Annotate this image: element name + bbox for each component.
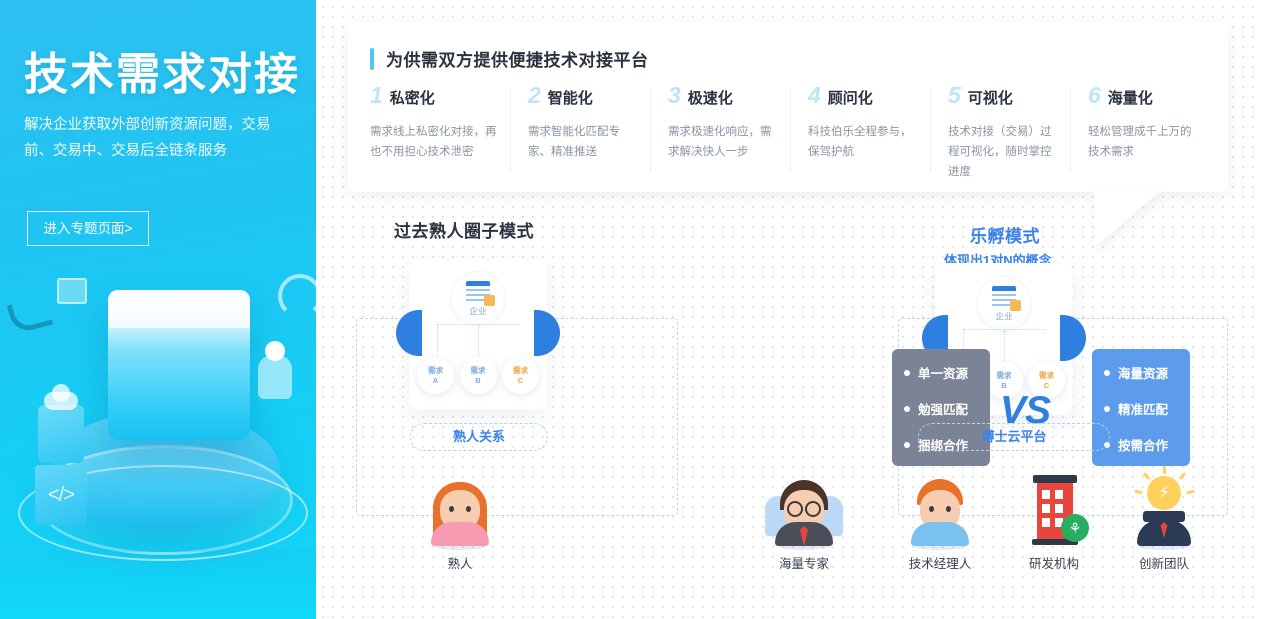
innovation-team-icon [1125, 470, 1203, 548]
enter-topic-page-button[interactable]: 进入专题页面> [27, 211, 149, 246]
feature-item-1[interactable]: 1 私密化 需求线上私密化对接，再也不用担心技术泄密 [370, 84, 510, 182]
enterprise-node: 企业 [451, 272, 505, 326]
actor-experts: 海量专家 [756, 470, 852, 572]
demand-node-c: 需求 C [502, 357, 539, 394]
suit-icon [1137, 520, 1191, 546]
feature-number: 5 [948, 84, 961, 107]
node-line1: 需求 [513, 366, 528, 376]
feature-heading: 4 顾问化 [808, 84, 918, 108]
right-benefits-box: 海量资源 精准匹配 按需合作 [1092, 349, 1190, 466]
robot-icon [258, 355, 292, 399]
body [431, 522, 489, 546]
cloud-icon [44, 392, 78, 410]
eye [946, 506, 951, 512]
demand-node-a: 需求 A [417, 357, 454, 394]
bulb-ray [1163, 466, 1166, 474]
node-line1: 需求 [1039, 371, 1054, 381]
feature-name: 极速化 [688, 87, 733, 108]
left-mode-title: 过去熟人圈子模式 [394, 217, 534, 242]
benefit-label: 勉强匹配 [918, 399, 968, 418]
actor-label: 熟人 [412, 553, 508, 572]
right-platform-pill: 博士云平台 [918, 423, 1110, 451]
feature-item-3[interactable]: 3 极速化 需求极速化响应，需求解决快人一步 [650, 84, 790, 182]
acquaintance-avatar-icon [421, 470, 499, 548]
code-block-icon: </> [35, 465, 87, 525]
accent-bar [370, 48, 374, 70]
eye [466, 506, 471, 512]
feature-description: 需求线上私密化对接，再也不用担心技术泄密 [370, 122, 498, 162]
feature-heading: 2 智能化 [528, 84, 638, 108]
feature-card-title: 为供需双方提供便捷技术对接平台 [386, 46, 649, 71]
feature-name: 智能化 [548, 87, 593, 108]
actor-team: 创新团队 [1116, 470, 1212, 572]
experts-avatar-icon [765, 470, 843, 548]
illustration-swoosh [7, 295, 53, 334]
node-line1: 需求 [428, 366, 443, 376]
feature-number: 1 [370, 84, 383, 107]
eye [929, 506, 934, 512]
node-line2: B [475, 376, 480, 386]
hero-subtitle: 解决企业获取外部创新资源问题，交易前、交易中、交易后全链条服务 [24, 112, 294, 164]
actor-label: 海量专家 [756, 553, 852, 572]
enterprise-label: 企业 [995, 310, 1012, 322]
feature-card-header: 为供需双方提供便捷技术对接平台 [370, 46, 649, 71]
lightbulb-icon [1147, 476, 1181, 510]
feature-heading: 1 私密化 [370, 84, 498, 108]
benefit-label: 按需合作 [1118, 435, 1168, 454]
page-title: 技术需求对接 [24, 38, 300, 102]
feature-list: 1 私密化 需求线上私密化对接，再也不用担心技术泄密 2 智能化 需求智能化匹配… [370, 84, 1210, 182]
benefit-label: 精准匹配 [1118, 399, 1168, 418]
node-line1: 需求 [471, 366, 486, 376]
illustration-screen [57, 278, 87, 304]
actor-organization: ⚘ 研发机构 [1006, 470, 1102, 572]
feature-item-5[interactable]: 5 可视化 技术对接（交易）过程可视化，随时掌控进度 [930, 84, 1070, 182]
enterprise-building-icon [992, 286, 1016, 308]
benefit-item: 精准匹配 [1104, 399, 1190, 418]
node-line1: 需求 [997, 371, 1012, 381]
feature-card: 为供需双方提供便捷技术对接平台 1 私密化 需求线上私密化对接，再也不用担心技术… [348, 22, 1228, 192]
bullet-dot-icon [904, 370, 910, 376]
body [911, 522, 969, 546]
feature-description: 技术对接（交易）过程可视化，随时掌控进度 [948, 122, 1058, 182]
bulb-ray [1134, 490, 1143, 495]
feature-description: 需求智能化匹配专家、精准推送 [528, 122, 638, 162]
illustration-cylinder [38, 405, 84, 463]
manager-avatar-icon [901, 470, 979, 548]
feature-number: 4 [808, 84, 821, 107]
enterprise-node: 企业 [977, 277, 1031, 331]
actor-label: 创新团队 [1116, 553, 1212, 572]
feature-description: 需求极速化响应，需求解决快人一步 [668, 122, 778, 162]
feature-item-2[interactable]: 2 智能化 需求智能化匹配专家、精准推送 [510, 84, 650, 182]
feature-name: 私密化 [390, 87, 435, 108]
feature-name: 可视化 [968, 87, 1013, 108]
research-building-icon: ⚘ [1015, 470, 1093, 548]
demand-node-row: 需求 A 需求 B 需求 C [417, 357, 539, 394]
feature-name: 顾问化 [828, 87, 873, 108]
benefit-item: 海量资源 [1104, 363, 1190, 382]
enterprise-building-icon [466, 281, 490, 303]
feature-heading: 3 极速化 [668, 84, 778, 108]
benefit-item: 按需合作 [1104, 435, 1190, 454]
speech-bubble-tail [1094, 190, 1162, 248]
actor-manager: 技术经理人 [892, 470, 988, 572]
left-enterprise-card: 企业 需求 A 需求 B 需求 C [409, 258, 547, 410]
feature-number: 3 [668, 84, 681, 107]
bullet-dot-icon [904, 406, 910, 412]
actor-label: 研发机构 [1006, 553, 1102, 572]
node-line2: C [518, 376, 523, 386]
actor-label: 技术经理人 [892, 553, 988, 572]
feature-name: 海量化 [1108, 87, 1153, 108]
bullet-dot-icon [904, 442, 910, 448]
feature-item-4[interactable]: 4 顾问化 科技伯乐全程参与，保驾护航 [790, 84, 930, 182]
bullet-dot-icon [1104, 370, 1110, 376]
actor-acquaintance: 熟人 [412, 470, 508, 572]
benefit-item: 勉强匹配 [904, 399, 990, 418]
feature-description: 科技伯乐全程参与，保驾护航 [808, 122, 918, 162]
right-mode-title: 乐孵模式 [970, 222, 1040, 247]
illustration-server-lid [108, 290, 250, 328]
feature-number: 2 [528, 84, 541, 107]
benefit-item: 单一资源 [904, 363, 990, 382]
eye [449, 506, 454, 512]
bulb-ray [1186, 490, 1195, 495]
microscope-icon: ⚘ [1061, 514, 1089, 542]
benefit-label: 单一资源 [918, 363, 968, 382]
bullet-dot-icon [1104, 406, 1110, 412]
feature-heading: 5 可视化 [948, 84, 1058, 108]
left-relationship-pill: 熟人关系 [410, 423, 548, 451]
building-windows [1042, 490, 1050, 499]
node-line2: A [433, 376, 438, 386]
content-canvas: 为供需双方提供便捷技术对接平台 1 私密化 需求线上私密化对接，再也不用担心技术… [316, 0, 1262, 619]
hero-panel: </> 技术需求对接 解决企业获取外部创新资源问题，交易前、交易中、交易后全链条… [0, 0, 316, 619]
benefit-label: 海量资源 [1118, 363, 1168, 382]
glasses-icon [787, 501, 821, 513]
feature-description: 轻松管理成千上万的技术需求 [1088, 122, 1198, 162]
feature-number: 6 [1088, 84, 1101, 107]
feature-item-6[interactable]: 6 海量化 轻松管理成千上万的技术需求 [1070, 84, 1210, 182]
enterprise-label: 企业 [469, 305, 486, 317]
demand-node-b: 需求 B [460, 357, 497, 394]
wifi-icon [278, 274, 316, 318]
hero-illustration: </> [0, 250, 316, 619]
feature-heading: 6 海量化 [1088, 84, 1198, 108]
